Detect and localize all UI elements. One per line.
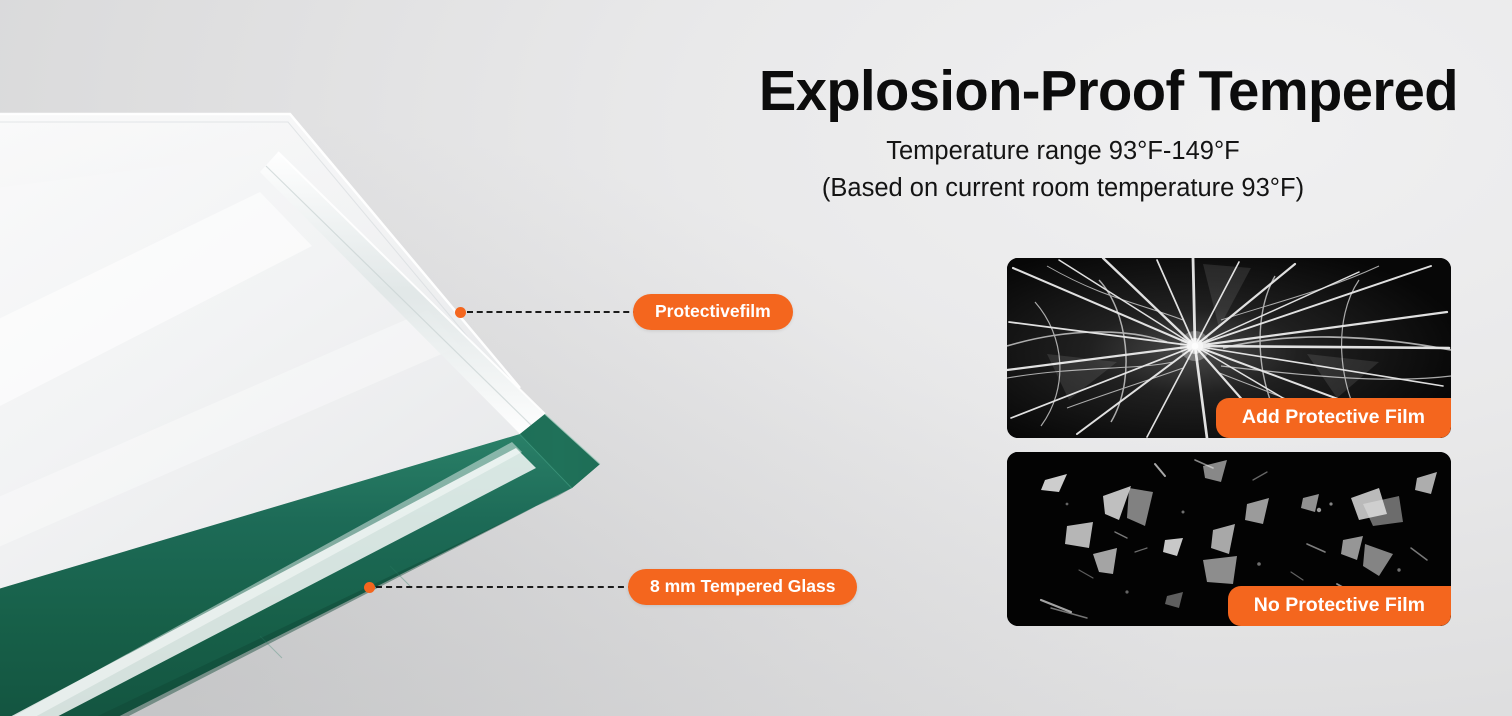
product-feature-banner: Explosion-Proof Tempered Temperature ran… [0,0,1512,716]
callout-protective-film: Protectivefilm [455,296,793,328]
callout-label-protective-film: Protectivefilm [633,294,793,331]
badge-add-protective-film: Add Protective Film [1216,398,1451,439]
comparison-card-with-film: Add Protective Film [1007,258,1451,438]
callout-leader-line [467,311,639,313]
page-title: Explosion-Proof Tempered [680,62,1458,121]
subtitle-block: Temperature range 93°F-149°F (Based on c… [668,133,1458,207]
headline-block: Explosion-Proof Tempered Temperature ran… [668,62,1458,207]
callout-tempered-glass: 8 mm Tempered Glass [364,571,857,603]
callout-leader-line [376,586,634,588]
subtitle-temperature-range: Temperature range 93°F-149°F [668,133,1458,170]
callout-label-tempered-glass: 8 mm Tempered Glass [628,569,857,606]
callout-anchor-dot-icon [364,582,375,593]
badge-no-protective-film: No Protective Film [1228,586,1451,627]
tempered-glass-illustration [0,96,720,716]
comparison-card-without-film: No Protective Film [1007,452,1451,626]
subtitle-room-temperature-note: (Based on current room temperature 93°F) [668,170,1458,207]
callout-anchor-dot-icon [455,307,466,318]
